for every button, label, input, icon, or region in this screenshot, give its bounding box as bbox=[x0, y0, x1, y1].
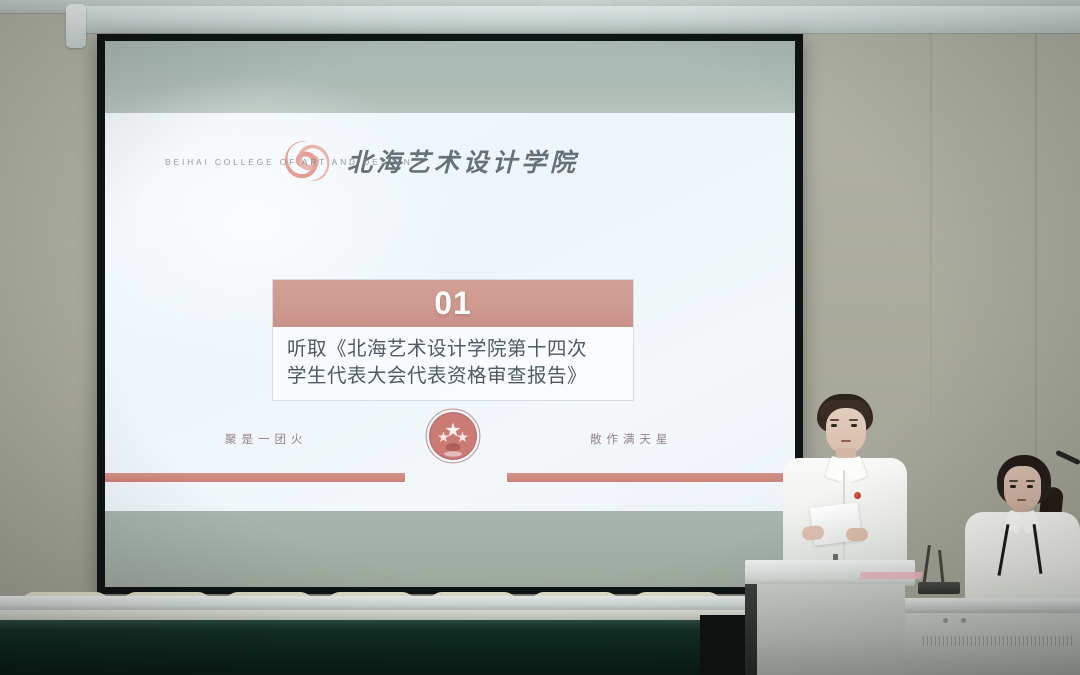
screen-surface: 北海艺术设计学院 BEIHAI COLLEGE OF ART AND DESIG… bbox=[105, 41, 795, 587]
speaker-mouth bbox=[841, 440, 851, 442]
podium-body bbox=[757, 584, 905, 675]
attendee-eye bbox=[1027, 485, 1033, 488]
podium-pink-paper bbox=[859, 572, 924, 579]
screen-unlit-band-bottom bbox=[105, 511, 795, 587]
speaker-party-pin-icon bbox=[854, 492, 861, 499]
wall-left bbox=[0, 14, 104, 614]
screen-unlit-band-top bbox=[105, 41, 795, 113]
wall-seam-right-inner bbox=[930, 14, 932, 414]
slide-section-number: 01 bbox=[434, 285, 472, 322]
attendee-mouth bbox=[1017, 499, 1026, 501]
slide-title-line-2: 学生代表大会代表资格审查报告》 bbox=[287, 362, 619, 389]
slide-slogan-left: 聚是一团火 bbox=[225, 431, 308, 447]
desk-screw bbox=[961, 618, 966, 623]
slide-title-card: 01 听取《北海艺术设计学院第十四次 学生代表大会代表资格审查报告》 bbox=[272, 279, 634, 401]
slide-title-line-1: 听取《北海艺术设计学院第十四次 bbox=[287, 335, 619, 362]
student-union-emblem-icon bbox=[425, 408, 481, 464]
attendee-brow bbox=[1026, 480, 1035, 482]
slide-footer-bar-right bbox=[507, 473, 795, 482]
slide-slogan-right: 散作满天星 bbox=[590, 431, 673, 447]
speaker-hand-right bbox=[846, 528, 868, 541]
slide-footer-bar-left bbox=[105, 473, 405, 482]
speaker-brow bbox=[849, 419, 858, 421]
slide-section-number-bar: 01 bbox=[273, 280, 633, 327]
speaker-eye bbox=[831, 424, 837, 427]
lecture-hall-scene: 北海艺术设计学院 BEIHAI COLLEGE OF ART AND DESIG… bbox=[0, 0, 1080, 675]
roller-end-cap bbox=[66, 4, 86, 48]
panel-desk bbox=[905, 598, 1080, 675]
attendee-eye bbox=[1010, 485, 1016, 488]
brand-name-en: BEIHAI COLLEGE OF ART AND DESIGN bbox=[165, 157, 413, 167]
slide: 北海艺术设计学院 BEIHAI COLLEGE OF ART AND DESIG… bbox=[105, 113, 795, 511]
speaker-brow bbox=[830, 419, 839, 421]
speaker-podium bbox=[745, 560, 915, 675]
slide-title-body: 听取《北海艺术设计学院第十四次 学生代表大会代表资格审查报告》 bbox=[273, 327, 633, 400]
screen-roller-housing[interactable] bbox=[72, 6, 1080, 34]
desk-screw bbox=[943, 618, 948, 623]
speaker-eye bbox=[851, 424, 857, 427]
panel-desk-top bbox=[905, 598, 1080, 614]
projection-screen[interactable]: 北海艺术设计学院 BEIHAI COLLEGE OF ART AND DESIG… bbox=[97, 34, 803, 594]
attendee-brow bbox=[1009, 480, 1018, 482]
desk-microphone-base bbox=[918, 582, 960, 594]
desk-vent-grille bbox=[923, 636, 1073, 646]
